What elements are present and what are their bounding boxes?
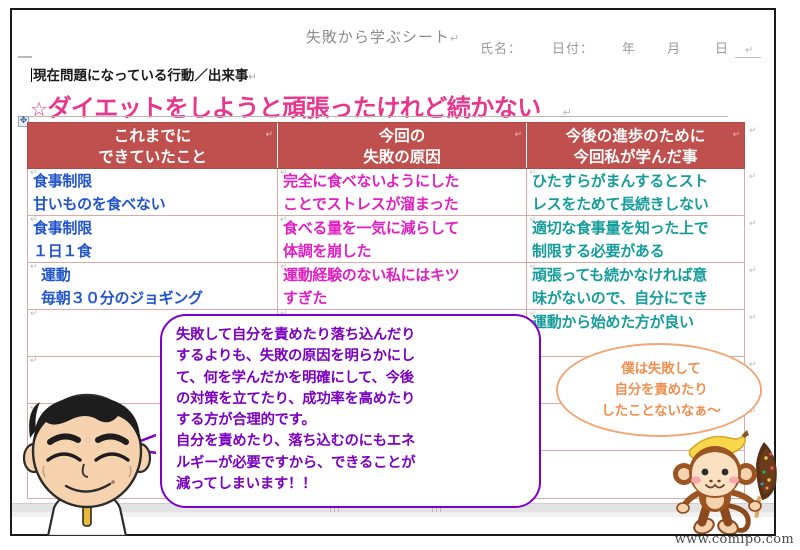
pilcrow-icon: ↵ — [749, 266, 757, 276]
table-row: ↵食事制限 １日１食↵食べる量を一気に減らして 体調を崩した↵適切な食事量を知っ… — [28, 216, 744, 263]
watermark: www.comipo.com — [638, 532, 794, 547]
prompt-line: 現在問題になっている行動／出来事↵ — [31, 64, 257, 84]
pilcrow-icon: ↵ — [749, 172, 757, 182]
table-cell[interactable]: ↵食べる量を一気に減らして 体調を崩した — [278, 216, 527, 262]
pilcrow-icon: ↵ — [529, 263, 537, 272]
pilcrow-icon: ↵ — [30, 216, 38, 225]
table-cell[interactable]: ↵食事制限 １日１食 — [28, 216, 278, 262]
day-label: 日 — [715, 38, 745, 57]
table-cell-text: 適切な食事量を知った上で 制限する必要がある — [532, 217, 742, 262]
table-cell[interactable]: ↵運動 毎朝３０分のジョギング — [28, 263, 278, 309]
table-cell-text: 運動経験のない私にはキツ すぎた — [283, 264, 524, 309]
pilcrow-icon: ↵ — [265, 125, 273, 146]
pilcrow-icon: ↵ — [30, 169, 38, 178]
date-label: 日付： — [552, 38, 622, 57]
table-cell-text: 食べる量を一気に減らして 体調を崩した — [283, 217, 524, 262]
table-cell-text: 食事制限 １日１食 — [33, 217, 275, 262]
doctor-speech-bubble: 失敗して自分を責めたり落ち込んだり するよりも、失敗の原因を明らかにし て、何を… — [160, 314, 541, 508]
headline-underline — [28, 116, 728, 117]
table-cell-text: ひたすらがまんするとスト レスをためて長続きしない — [532, 170, 742, 215]
table-cell[interactable]: ↵ひたすらがまんするとスト レスをためて長続きしない — [527, 169, 744, 215]
margin-dash — [18, 56, 32, 58]
pilcrow-icon: ↵ — [280, 169, 288, 178]
table-cell[interactable]: ↵食事制限 甘いものを食べない — [28, 169, 278, 215]
table-cell-text: 食事制限 甘いものを食べない — [33, 170, 275, 215]
pilcrow-icon: ↵ — [450, 32, 460, 45]
pilcrow-icon: ↵ — [749, 126, 757, 136]
headline: ☆ダイエットをしようと頑張ったけれど続かない ↵ — [30, 88, 630, 123]
table-header-text: 今回の 失敗の原因 — [363, 127, 441, 166]
pilcrow-icon: ↵ — [529, 310, 537, 319]
meta-underline — [735, 57, 761, 58]
pilcrow-icon: ↵ — [280, 263, 288, 272]
month-label: 月 — [667, 38, 715, 57]
document-title-text: 失敗から学ぶシート — [306, 28, 450, 46]
pilcrow-icon: ↵ — [749, 219, 757, 229]
pilcrow-icon: ↵ — [529, 216, 537, 225]
pilcrow-icon: ↵ — [732, 125, 740, 146]
table-header-text: 今後の進歩のために 今回私が学んだ事 — [566, 127, 706, 166]
doctor-avatar — [14, 386, 160, 536]
table-row: ↵運動 毎朝３０分のジョギング↵運動経験のない私にはキツ すぎた↵頑張っても続か… — [28, 263, 744, 310]
table-header-cell-2: 今回の 失敗の原因 ↵ — [278, 123, 527, 168]
pilcrow-icon: ↵ — [529, 169, 537, 178]
table-header-cell-1: これまでに できていたこと ↵ — [28, 123, 278, 168]
pilcrow-icon: ↵ — [248, 72, 256, 83]
name-label: 氏名： — [480, 38, 552, 57]
table-header-row: これまでに できていたこと ↵ 今回の 失敗の原因 ↵ 今後の進歩のために 今回… — [27, 122, 745, 169]
year-label: 年 — [622, 38, 667, 57]
pilcrow-icon: ↵ — [749, 313, 757, 323]
pilcrow-icon: ↵ — [30, 357, 38, 366]
table-cell-text: 運動から始めた方が良い — [532, 311, 742, 334]
headline-text: ダイエットをしようと頑張ったけれど続かない — [47, 94, 540, 122]
text-caret — [31, 68, 32, 82]
doctor-speech-text: 失敗して自分を責めたり落ち込んだり するよりも、失敗の原因を明らかにし て、何を… — [176, 325, 532, 495]
table-cell-text: 運動 毎朝３０分のジョギング — [33, 264, 275, 309]
monkey-speech-text: 僕は失敗して 自分を責めたり したことないなぁ～ — [558, 359, 764, 422]
table-cell[interactable]: ↵適切な食事量を知った上で 制限する必要がある — [527, 216, 744, 262]
table-header-cell-3: 今後の進歩のために 今回私が学んだ事 ↵ — [527, 123, 744, 168]
pilcrow-icon: ↵ — [514, 125, 522, 146]
prompt-label: 現在問題になっている行動／出来事 — [33, 68, 248, 84]
table-cell-text: 頑張っても続かなければ意 味がないので、自分にでき — [532, 264, 742, 309]
pilcrow-icon: ↵ — [30, 310, 38, 319]
table-row: ↵食事制限 甘いものを食べない↵完全に食べないようにした ことでストレスが溜まっ… — [28, 169, 744, 216]
pilcrow-icon: ↵ — [30, 263, 38, 272]
monkey-character — [668, 428, 790, 534]
table-cell[interactable]: ↵頑張っても続かなければ意 味がないので、自分にでき — [527, 263, 744, 309]
table-cell[interactable]: ↵完全に食べないようにした ことでストレスが溜まった — [278, 169, 527, 215]
document-meta-row: 氏名：日付：年月日↵ — [480, 38, 766, 57]
pilcrow-icon: ↵ — [563, 106, 572, 119]
table-cell-text: 完全に食べないようにした ことでストレスが溜まった — [283, 170, 524, 215]
star-icon: ☆ — [30, 97, 47, 121]
table-header-text: これまでに できていたこと — [98, 127, 207, 166]
table-cell[interactable]: ↵運動経験のない私にはキツ すぎた — [278, 263, 527, 309]
pilcrow-icon: ↵ — [745, 45, 754, 56]
screenshot-root: 失敗から学ぶシート↵ 氏名：日付：年月日↵ 現在問題になっている行動／出来事↵ … — [0, 0, 800, 550]
pilcrow-icon: ↵ — [280, 216, 288, 225]
monkey-speech-bubble: 僕は失敗して 自分を責めたり したことないなぁ～ — [556, 343, 762, 437]
